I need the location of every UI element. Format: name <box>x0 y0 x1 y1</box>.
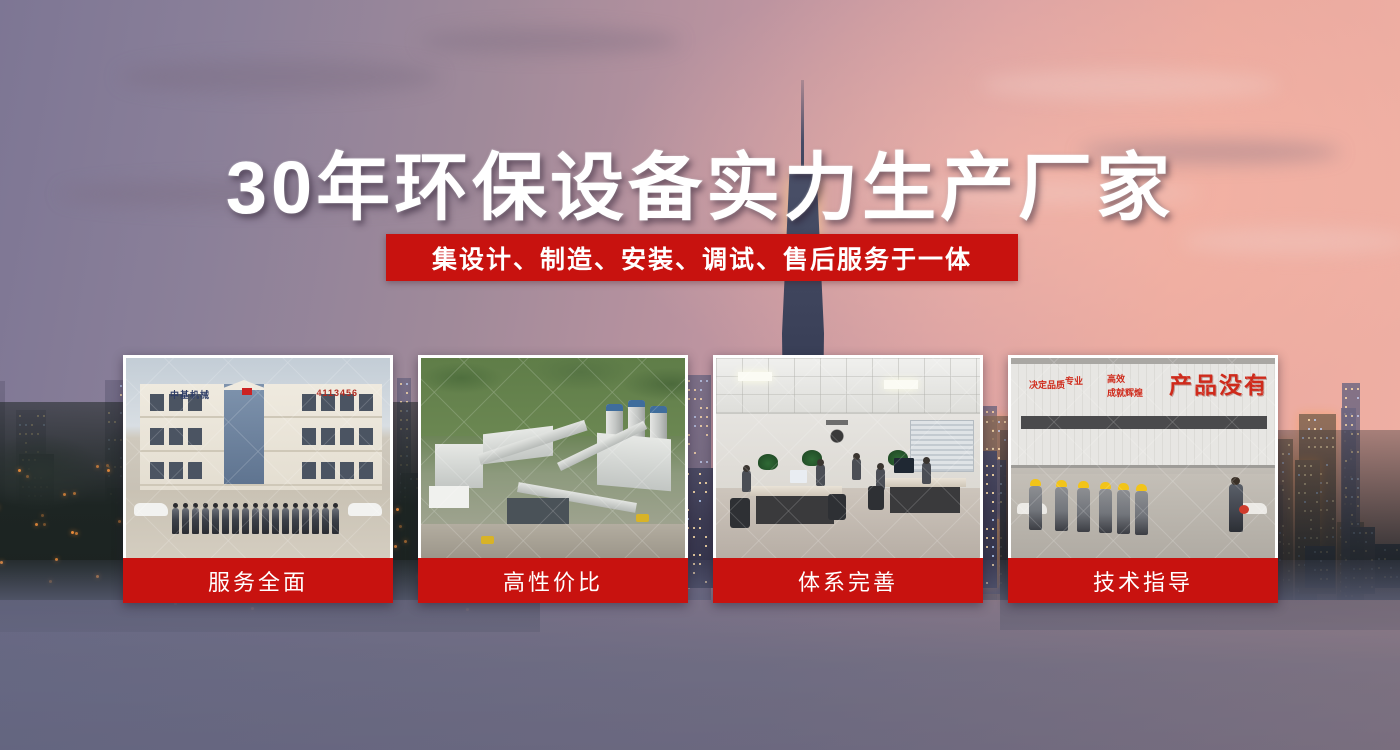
cloud <box>420 28 680 54</box>
building-window <box>1345 415 1347 417</box>
feature-card-system[interactable]: 体系完善 <box>713 355 983 603</box>
watermark-overlay <box>716 358 980 558</box>
feature-card-value[interactable]: 高性价比 <box>418 355 688 603</box>
city-light <box>107 469 110 472</box>
city-light <box>18 469 21 472</box>
cloud <box>980 70 1280 100</box>
building-window <box>120 394 122 396</box>
card-photo-company-building: 中基机械 4113456 <box>123 355 393 558</box>
card-photo-workers: 产品没有 决定品质 专业 高效 成就辉煌 <box>1008 355 1278 558</box>
building-window <box>1308 419 1310 421</box>
feature-card-service[interactable]: 中基机械 4113456 服务全面 <box>123 355 393 603</box>
city-light <box>63 493 66 496</box>
watermark-overlay <box>126 358 390 558</box>
building-window <box>1345 406 1347 408</box>
building-window <box>1345 388 1347 390</box>
city-light <box>75 532 78 535</box>
building-window <box>1357 397 1359 399</box>
feature-card-guidance[interactable]: 产品没有 决定品质 专业 高效 成就辉煌 <box>1008 355 1278 603</box>
subtitle-banner: 集设计、制造、安装、调试、售后服务于一体 <box>386 234 1018 281</box>
building-window <box>1357 388 1359 390</box>
city-light <box>35 523 38 526</box>
city-light <box>41 514 44 517</box>
subtitle-text: 集设计、制造、安装、调试、售后服务于一体 <box>432 240 972 276</box>
cloud <box>120 60 440 94</box>
watermark-overlay <box>1011 358 1275 558</box>
city-light <box>118 520 121 523</box>
city-light <box>73 492 76 495</box>
building-window <box>1351 415 1353 417</box>
city-light <box>96 465 99 468</box>
water-reflection <box>0 600 1400 750</box>
building-window <box>1314 419 1316 421</box>
city-light <box>43 523 46 526</box>
city-light <box>71 531 74 534</box>
city-light <box>26 475 29 478</box>
card-label-guidance: 技术指导 <box>1008 558 1278 603</box>
building-window <box>1345 397 1347 399</box>
building-window <box>1345 424 1347 426</box>
card-photo-plant-aerial <box>418 355 688 558</box>
feature-card-list: 中基机械 4113456 服务全面 <box>123 355 1278 603</box>
building-window <box>1357 415 1359 417</box>
watermark-overlay <box>421 358 685 558</box>
card-label-system: 体系完善 <box>713 558 983 603</box>
building-window <box>1351 424 1353 426</box>
hero-banner: 30年环保设备实力生产厂家 集设计、制造、安装、调试、售后服务于一体 中基机械 … <box>0 0 1400 750</box>
city-light <box>106 464 109 467</box>
building-window <box>120 385 122 387</box>
card-photo-office-interior <box>713 355 983 558</box>
building-window <box>1351 388 1353 390</box>
page-title: 30年环保设备实力生产厂家 <box>0 128 1400 235</box>
card-label-service: 服务全面 <box>123 558 393 603</box>
card-label-value: 高性价比 <box>418 558 688 603</box>
